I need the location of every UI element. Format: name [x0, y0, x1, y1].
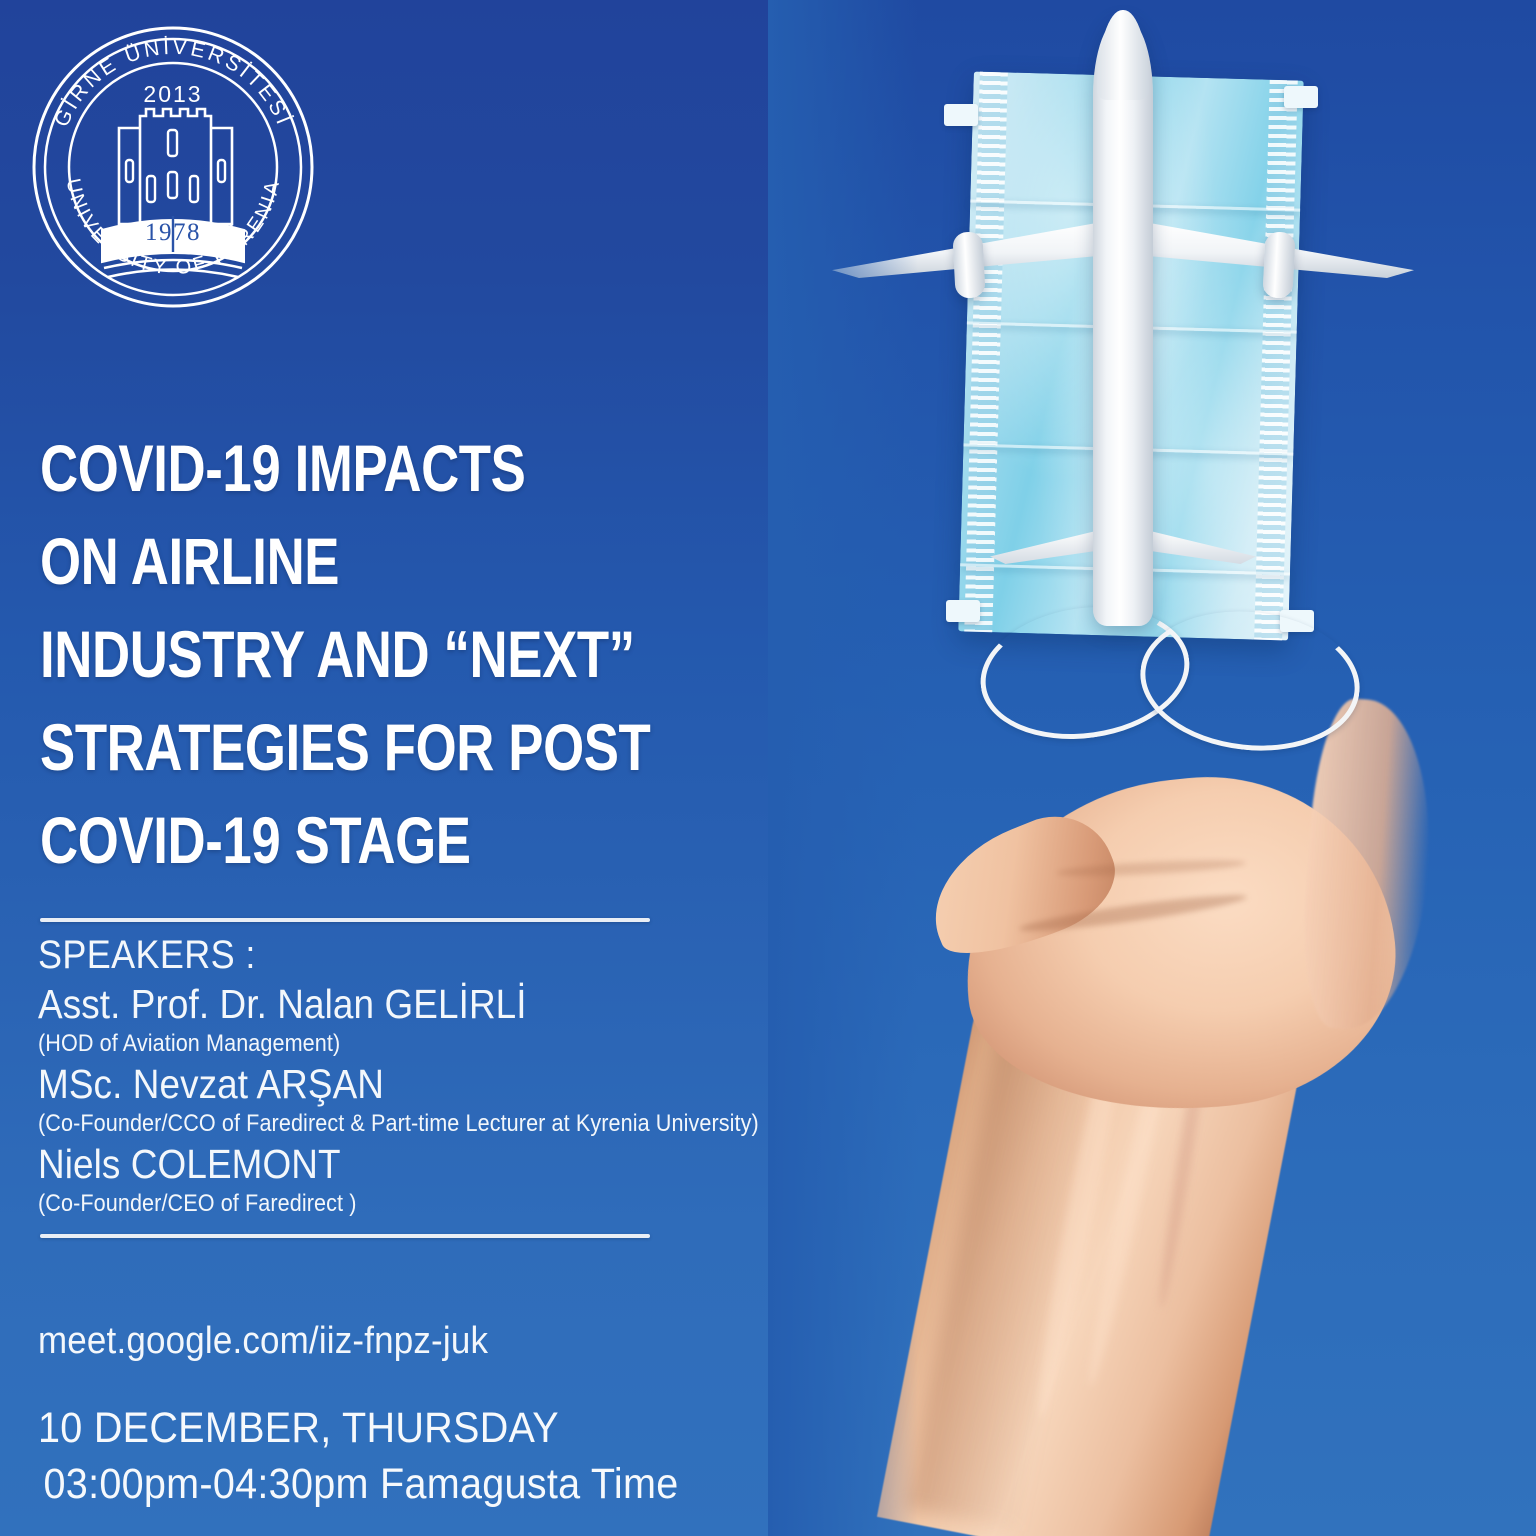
- event-time: 03:00pm-04:30pm Famagusta Time: [38, 1456, 678, 1512]
- event-date: 10 DECEMBER, THURSDAY: [38, 1400, 678, 1456]
- divider-bottom: [40, 1234, 650, 1238]
- speakers-heading: SPEAKERS :: [38, 930, 668, 980]
- webinar-poster: GİRNE ÜNİVERSİTESİ UNIVERSITY OF KYRENIA…: [0, 0, 1536, 1536]
- airplane-engine-left: [952, 231, 985, 298]
- title-line-4: STRATEGIES FOR POST: [40, 701, 592, 794]
- title-line-1: COVID-19 IMPACTS: [40, 422, 592, 515]
- divider-top: [40, 918, 650, 922]
- mask-corner-tab: [944, 104, 978, 126]
- schedule-section: 10 DECEMBER, THURSDAY 03:00pm-04:30pm Fa…: [38, 1400, 678, 1512]
- speaker-3-name: Niels COLEMONT: [38, 1140, 668, 1188]
- seal-book-year: 1978: [145, 219, 201, 246]
- mask-corner-tab: [1284, 86, 1318, 108]
- speaker-2-affiliation: (Co-Founder/CCO of Faredirect & Part-tim…: [38, 1108, 668, 1140]
- speaker-3-affiliation: (Co-Founder/CEO of Faredirect ): [38, 1188, 668, 1220]
- title-line-2: ON AIRLINE: [40, 515, 592, 608]
- hero-photo: [768, 0, 1536, 1536]
- google-meet-link[interactable]: meet.google.com/iiz-fnpz-juk: [38, 1318, 488, 1364]
- title-line-5: COVID-19 STAGE: [40, 794, 592, 887]
- speaker-1-affiliation: (HOD of Aviation Management): [38, 1028, 668, 1060]
- airplane-engine-right: [1262, 231, 1295, 298]
- speaker-1-name: Asst. Prof. Dr. Nalan GELİRLİ: [38, 980, 668, 1028]
- mask-pleat-band-left: [964, 72, 1008, 633]
- poster-title: COVID-19 IMPACTS ON AIRLINE INDUSTRY AND…: [40, 422, 592, 887]
- speakers-section: SPEAKERS : Asst. Prof. Dr. Nalan GELİRLİ…: [38, 930, 668, 1220]
- speaker-2-name: MSc. Nevzat ARŞAN: [38, 1060, 668, 1108]
- mask-corner-tab: [946, 600, 980, 622]
- title-line-3: INDUSTRY AND “NEXT”: [40, 608, 592, 701]
- seal-founding-year: 2013: [143, 81, 202, 107]
- university-seal-logo: GİRNE ÜNİVERSİTESİ UNIVERSITY OF KYRENIA…: [30, 24, 316, 310]
- airplane-fuselage: [1093, 16, 1153, 626]
